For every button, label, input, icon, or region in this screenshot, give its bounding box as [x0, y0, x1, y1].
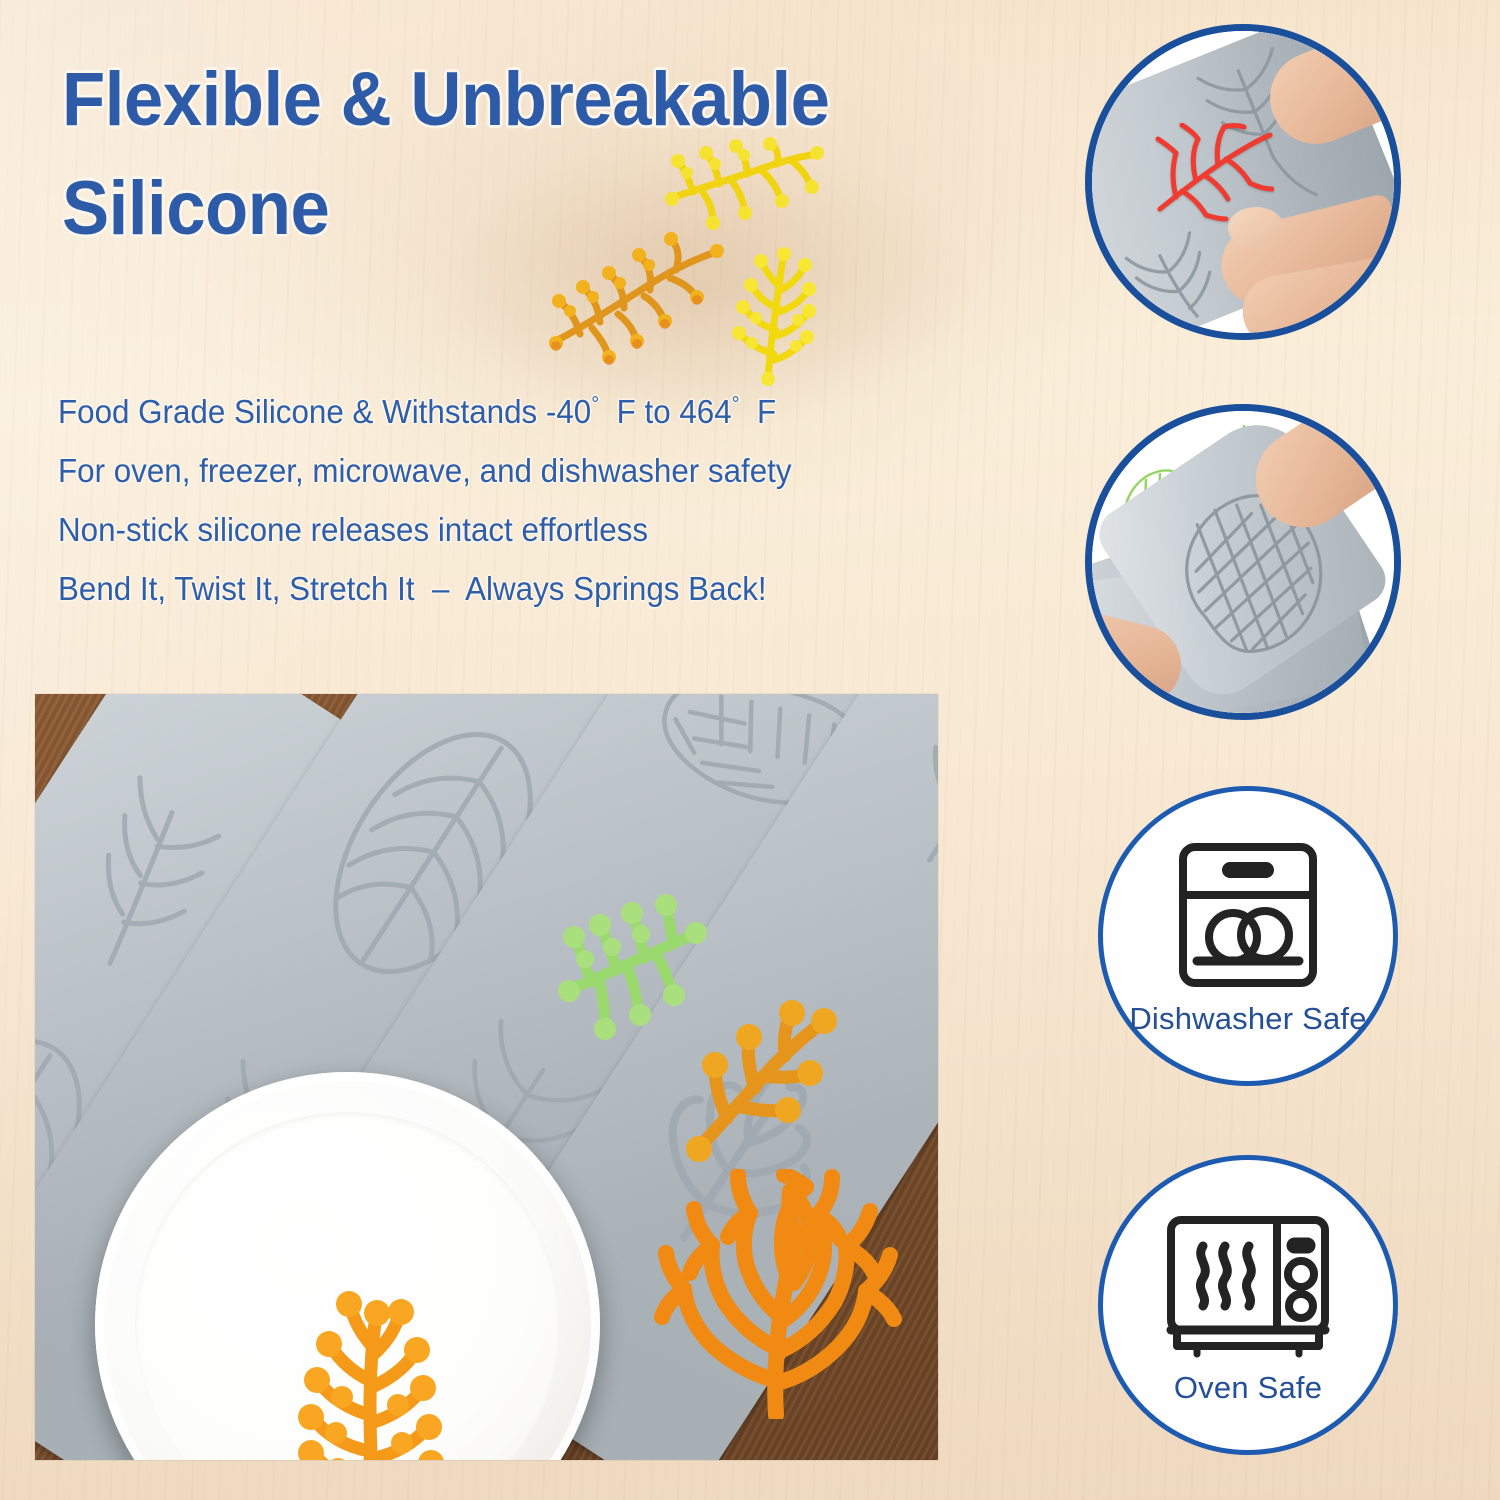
- bullet-line-3: Non-stick silicone releases intact effor…: [58, 500, 970, 559]
- main-product-photo: [35, 694, 938, 1460]
- orange-coral-piece-on-plate: [280, 1287, 465, 1460]
- bullet-line-2: For oven, freezer, microwave, and dishwa…: [58, 441, 970, 500]
- large-orange-coral-piece: [650, 1169, 915, 1424]
- headline-line-2: Silicone: [62, 155, 983, 264]
- microwave-oven-icon: [1163, 1204, 1333, 1364]
- yellow-coral-sprig-upper-decoration: [665, 142, 825, 262]
- circle-photo-bending-mold: [1085, 24, 1401, 340]
- left-content-column: Flexible & Unbreakable Silicone: [0, 0, 1060, 1500]
- badge-label-dishwasher: Dishwasher Safe: [1129, 1001, 1366, 1037]
- fingertip: [1228, 207, 1284, 249]
- page-title: Flexible & Unbreakable Silicone: [62, 46, 983, 263]
- amber-coral-silicone-piece: [675, 994, 855, 1169]
- feature-text-block: Food Grade Silicone & Withstands -40° F …: [58, 382, 970, 618]
- bullet-line-1: Food Grade Silicone & Withstands -40° F …: [58, 382, 970, 441]
- badge-label-oven: Oven Safe: [1174, 1370, 1322, 1406]
- circle-photo-twisting-mat: [1085, 404, 1401, 720]
- yellow-coral-sprig-lower-decoration: [712, 250, 842, 380]
- badge-oven-safe: Oven Safe: [1098, 1155, 1398, 1455]
- bullet-line-4: Bend It, Twist It, Stretch It – Always S…: [58, 559, 970, 618]
- dishwasher-icon: [1163, 835, 1333, 995]
- headline-line-1: Flexible & Unbreakable: [62, 57, 830, 142]
- badge-dishwasher-safe: Dishwasher Safe: [1098, 786, 1398, 1086]
